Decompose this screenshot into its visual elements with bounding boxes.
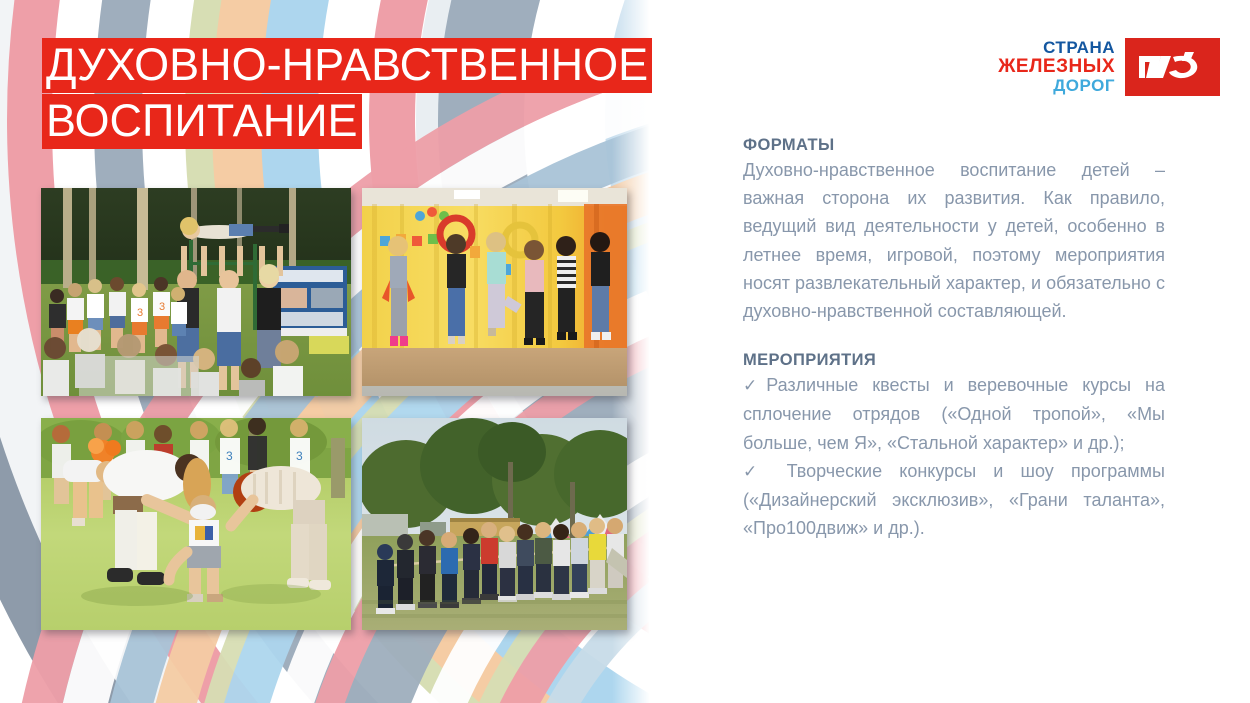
bullet-item-contests: ✓ Творческие конкурсы и шоу программы («… xyxy=(743,457,1165,543)
title-line-1: ДУХОВНО-НРАВСТВЕННОЕ xyxy=(42,38,652,93)
section-spacer xyxy=(743,325,1165,351)
section-body-formats: Духовно-нравственное воспитание детей – … xyxy=(743,156,1165,325)
presentation-slide: ДУХОВНО-НРАВСТВЕННОЕ ВОСПИТАНИЕ СТРАНА Ж… xyxy=(0,0,1250,703)
photo-lawn-game: 3 3 xyxy=(41,418,351,630)
svg-text:3: 3 xyxy=(296,449,303,463)
photo-stage-dance xyxy=(362,188,627,396)
photo-tug-of-war xyxy=(362,418,627,630)
section-heading-formats: ФОРМАТЫ xyxy=(743,136,1165,155)
bullet-text-quests: Различные квесты и веревочные курсы на с… xyxy=(743,375,1165,452)
rzd-logo-icon xyxy=(1125,38,1220,96)
title-line-2: ВОСПИТАНИЕ xyxy=(42,94,362,149)
check-icon: ✓ xyxy=(743,376,766,395)
svg-text:3: 3 xyxy=(159,301,165,313)
logo-line-strana: СТРАНА xyxy=(998,39,1115,57)
bullet-item-quests: ✓Различные квесты и веревочные курсы на … xyxy=(743,371,1165,457)
bullet-text-contests: Творческие конкурсы и шоу программы («Ди… xyxy=(743,461,1165,538)
logo-wordmark: СТРАНА ЖЕЛЕЗНЫХ ДОРОГ xyxy=(998,39,1115,95)
logo-line-dorog: ДОРОГ xyxy=(998,77,1115,95)
photo-camp-lifting: 3 3 xyxy=(41,188,351,396)
content-column: ФОРМАТЫ Духовно-нравственное воспитание … xyxy=(743,136,1165,542)
svg-text:3: 3 xyxy=(226,449,233,463)
page-title: ДУХОВНО-НРАВСТВЕННОЕ ВОСПИТАНИЕ xyxy=(42,38,652,150)
logo-line-zheleznyh: ЖЕЛЕЗНЫХ xyxy=(998,57,1115,77)
section-heading-events: МЕРОПРИЯТИЯ xyxy=(743,351,1165,370)
brand-logo: СТРАНА ЖЕЛЕЗНЫХ ДОРОГ xyxy=(998,38,1220,96)
check-icon: ✓ xyxy=(743,462,769,481)
svg-text:3: 3 xyxy=(137,307,143,319)
